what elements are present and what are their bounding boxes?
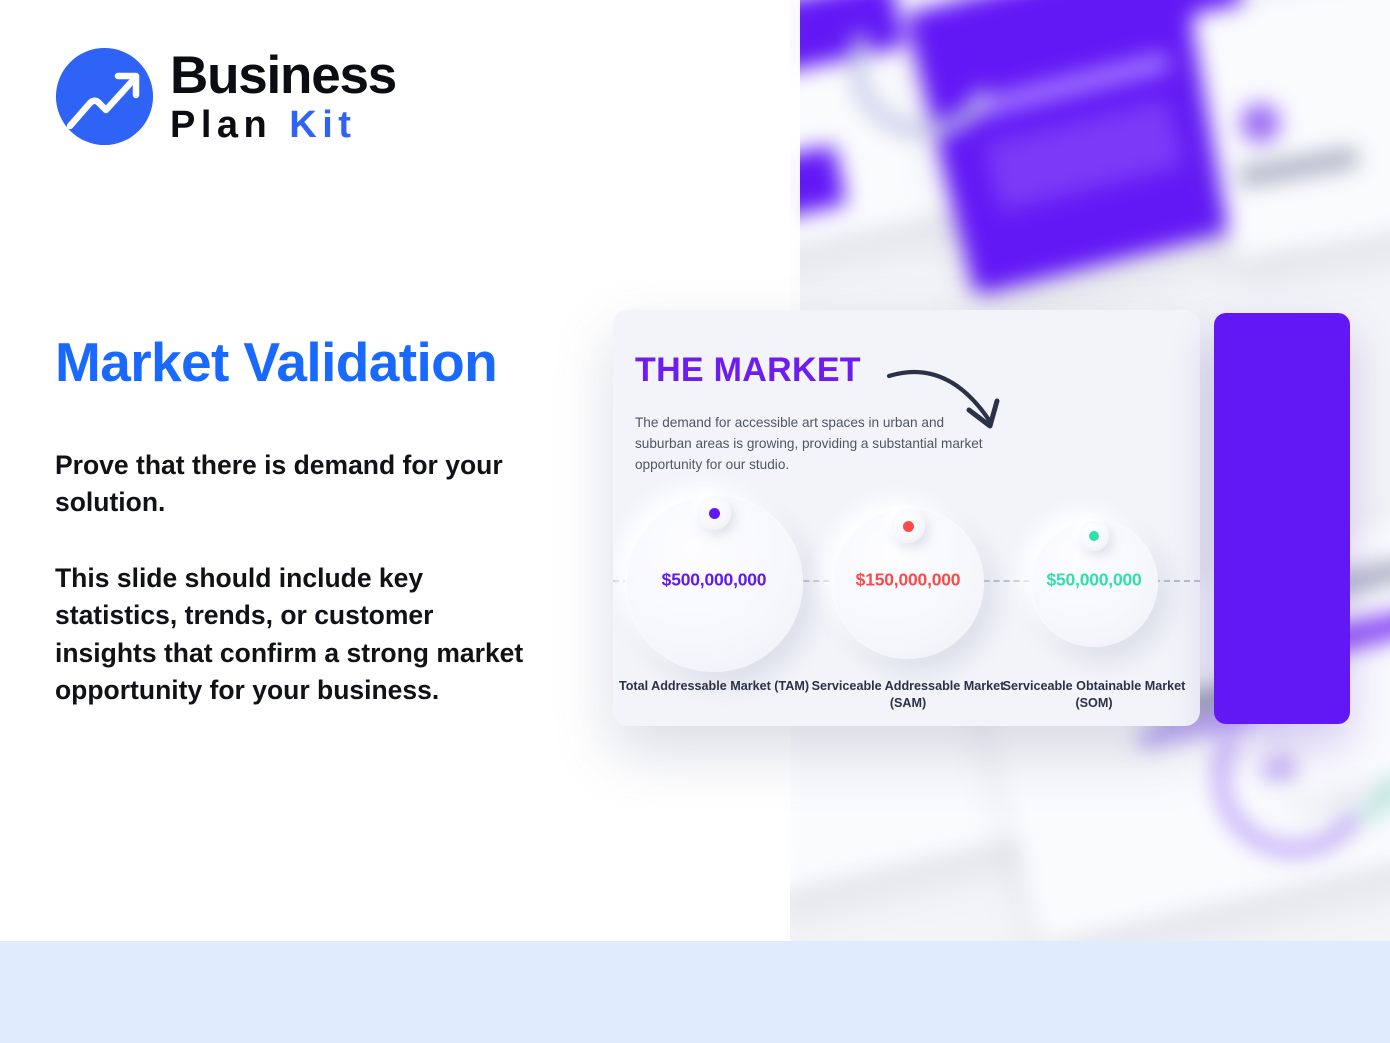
- market-metrics-row: $500,000,000 Total Addressable Market (T…: [613, 490, 1200, 726]
- background-slide-bar: [1237, 100, 1283, 146]
- metric-caption: Serviceable Obtainable Market (SOM): [994, 678, 1194, 711]
- metric-knob: [1079, 521, 1109, 551]
- brand-logo: Business Plan Kit: [56, 48, 396, 145]
- metric-tam[interactable]: $500,000,000 Total Addressable Market (T…: [619, 490, 809, 675]
- background-slide-bar: [1238, 147, 1360, 188]
- brand-wordmark: Business Plan Kit: [170, 49, 396, 144]
- brand-line-plan-kit: Plan Kit: [170, 106, 396, 144]
- brand-word-plan: Plan: [170, 106, 272, 144]
- green-indicator-dot-icon: [1089, 531, 1099, 541]
- market-card: THE MARKET The demand for accessible art…: [613, 310, 1200, 726]
- metric-caption: Serviceable Addressable Market (SAM): [808, 678, 1008, 711]
- metric-value: $500,000,000: [662, 570, 767, 591]
- metric-value: $50,000,000: [1046, 570, 1141, 591]
- metric-value: $150,000,000: [856, 570, 961, 591]
- metric-knob: [891, 509, 925, 543]
- trend-arrow-circle-icon: [56, 48, 153, 145]
- metric-knob: [697, 496, 731, 530]
- background-slide-bar: [984, 98, 1185, 212]
- purple-indicator-dot-icon: [709, 508, 720, 519]
- bottom-accent-band: [0, 941, 1390, 1043]
- metric-disc-wrap: $50,000,000: [999, 490, 1189, 675]
- red-indicator-dot-icon: [903, 521, 914, 532]
- curved-arrow-down-right-icon: [885, 352, 1025, 452]
- slide-lede-text: Prove that there is demand for your solu…: [55, 447, 575, 522]
- brand-line-business: Business: [170, 51, 396, 102]
- metric-disc-wrap: $500,000,000: [619, 490, 809, 675]
- metric-som[interactable]: $50,000,000 Serviceable Obtainable Marke…: [999, 490, 1189, 675]
- purple-accent-block: [1214, 313, 1350, 724]
- metric-caption: Total Addressable Market (TAM): [614, 678, 814, 695]
- metric-disc-wrap: $150,000,000: [813, 490, 1003, 675]
- card-heading: THE MARKET: [635, 353, 861, 387]
- brand-word-kit: Kit: [289, 106, 356, 144]
- page-title: Market Validation: [55, 333, 497, 392]
- slide-body-text: This slide should include key statistics…: [55, 560, 525, 711]
- metric-sam[interactable]: $150,000,000 Serviceable Addressable Mar…: [813, 490, 1003, 675]
